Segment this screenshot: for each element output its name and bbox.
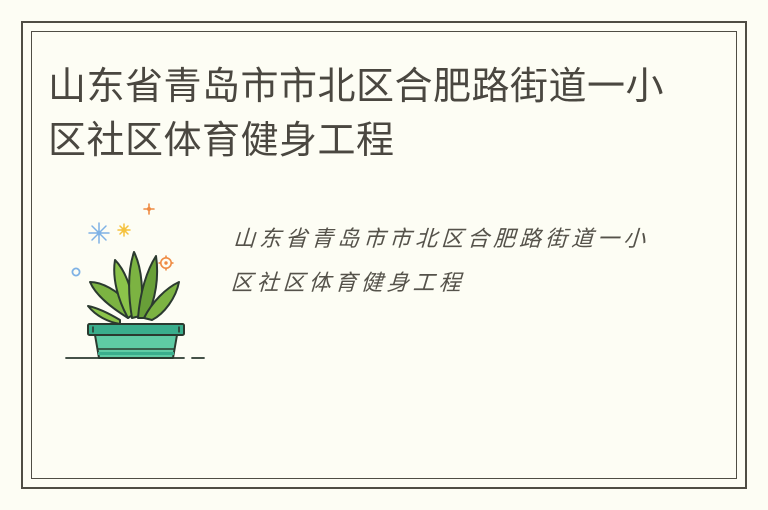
circle-sparkle <box>72 268 79 275</box>
plus-sparkle <box>144 204 154 214</box>
poster-canvas: 山东省青岛市市北区合肥路街道一小区社区体育健身工程 <box>0 0 768 510</box>
pot-body <box>95 335 177 358</box>
potted-plant-illustration <box>52 190 222 370</box>
flower-sparkle <box>159 256 174 271</box>
page-title: 山东省青岛市市北区合肥路街道一小区社区体育健身工程 <box>48 60 668 168</box>
star-sparkle <box>118 224 130 236</box>
snowflake-sparkle <box>89 223 109 243</box>
pot-rim <box>88 324 184 335</box>
handwritten-caption: 山东省青岛市市北区合肥路街道一小区社区体育健身工程 <box>230 218 665 306</box>
